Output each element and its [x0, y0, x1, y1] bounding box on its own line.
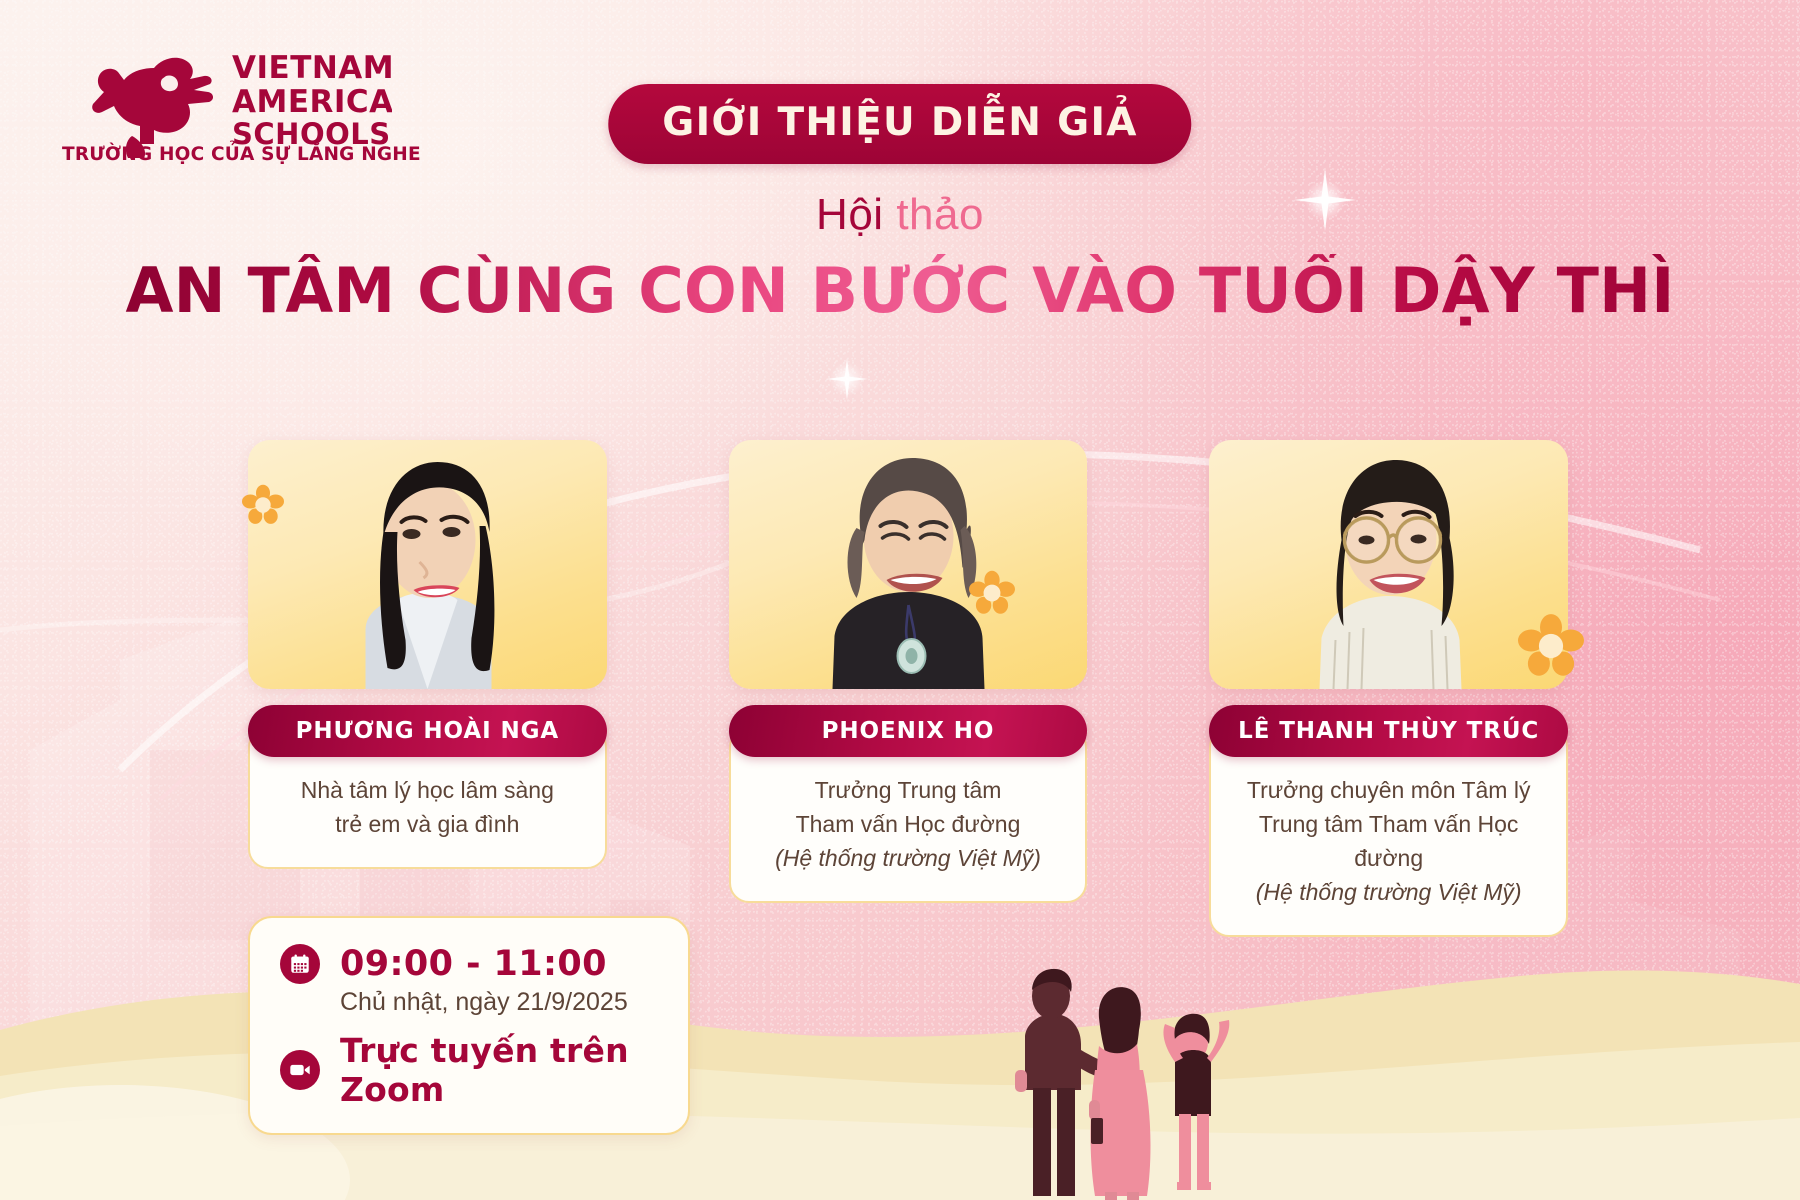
- bio-line-italic: (Hệ thống trường Việt Mỹ): [749, 841, 1068, 875]
- brand-tagline: TRƯỜNG HỌC CỦA SỰ LẮNG NGHE: [62, 144, 392, 165]
- speaker-card: PHOENIX HO Trưởng Trung tâm Tham vấn Học…: [729, 440, 1088, 903]
- calendar-icon: [280, 944, 320, 984]
- bio-line: Nhà tâm lý học lâm sàng: [268, 773, 587, 807]
- speaker-photo-frame: [248, 440, 607, 689]
- section-title-pill: GIỚI THIỆU DIỄN GIẢ: [608, 84, 1191, 164]
- flower-icon: [969, 570, 1015, 616]
- video-camera-icon: [280, 1050, 320, 1090]
- child-figure: [1163, 1014, 1229, 1190]
- eyebrow-word-1: Hội: [816, 190, 884, 239]
- speaker-name-badge: LÊ THANH THÙY TRÚC: [1209, 705, 1568, 757]
- svg-text:AMERICA: AMERICA: [232, 84, 392, 120]
- event-date: Chủ nhật, ngày 21/9/2025: [340, 988, 658, 1017]
- bio-line-italic: (Hệ thống trường Việt Mỹ): [1229, 875, 1548, 909]
- flower-icon: [1518, 613, 1584, 679]
- speaker-card: PHƯƠNG HOÀI NGA Nhà tâm lý học lâm sàng …: [248, 440, 607, 869]
- bio-line: Tham vấn Học đường: [749, 807, 1068, 841]
- bio-line: Trưởng chuyên môn Tâm lý: [1229, 773, 1548, 807]
- event-platform: Trực tuyến trên Zoom: [340, 1031, 658, 1109]
- bio-line: trẻ em và gia đình: [268, 807, 587, 841]
- speaker-name-badge: PHƯƠNG HOÀI NGA: [248, 705, 607, 757]
- event-info-box: 09:00 - 11:00 Chủ nhật, ngày 21/9/2025 T…: [248, 916, 690, 1135]
- event-time: 09:00 - 11:00: [340, 944, 607, 984]
- family-illustration: [985, 950, 1325, 1200]
- portrait-image: [248, 440, 607, 689]
- platform-row: Trực tuyến trên Zoom: [280, 1031, 658, 1109]
- time-row: 09:00 - 11:00: [280, 944, 658, 984]
- eyebrow-hoi-thao: Hội thảo: [816, 190, 984, 240]
- speaker-photo-frame: [729, 440, 1088, 689]
- flower-icon: [242, 484, 284, 526]
- bio-line: Trung tâm Tham vấn Học đường: [1229, 807, 1548, 875]
- portrait-image: [729, 440, 1088, 689]
- dragon-horse-icon: [92, 58, 213, 158]
- bio-line: Trưởng Trung tâm: [749, 773, 1068, 807]
- speaker-bio: Trưởng chuyên môn Tâm lý Trung tâm Tham …: [1209, 727, 1568, 937]
- brand-logo[interactable]: VIETNAM AMERICA SCHOOLS TRƯỜNG HỌC CỦA S…: [62, 40, 392, 162]
- svg-text:VIETNAM: VIETNAM: [232, 50, 392, 86]
- speaker-card: LÊ THANH THÙY TRÚC Trưởng chuyên môn Tâm…: [1209, 440, 1568, 937]
- page-title: AN TÂM CÙNG CON BƯỚC VÀO TUỔI DẬY THÌ: [125, 254, 1674, 327]
- eyebrow-word-2: thảo: [896, 190, 984, 239]
- portrait-image: [1209, 440, 1568, 689]
- speakers-row: PHƯƠNG HOÀI NGA Nhà tâm lý học lâm sàng …: [248, 440, 1568, 937]
- speaker-photo-frame: [1209, 440, 1568, 689]
- speaker-name-badge: PHOENIX HO: [729, 705, 1088, 757]
- mother-figure: [1089, 987, 1150, 1200]
